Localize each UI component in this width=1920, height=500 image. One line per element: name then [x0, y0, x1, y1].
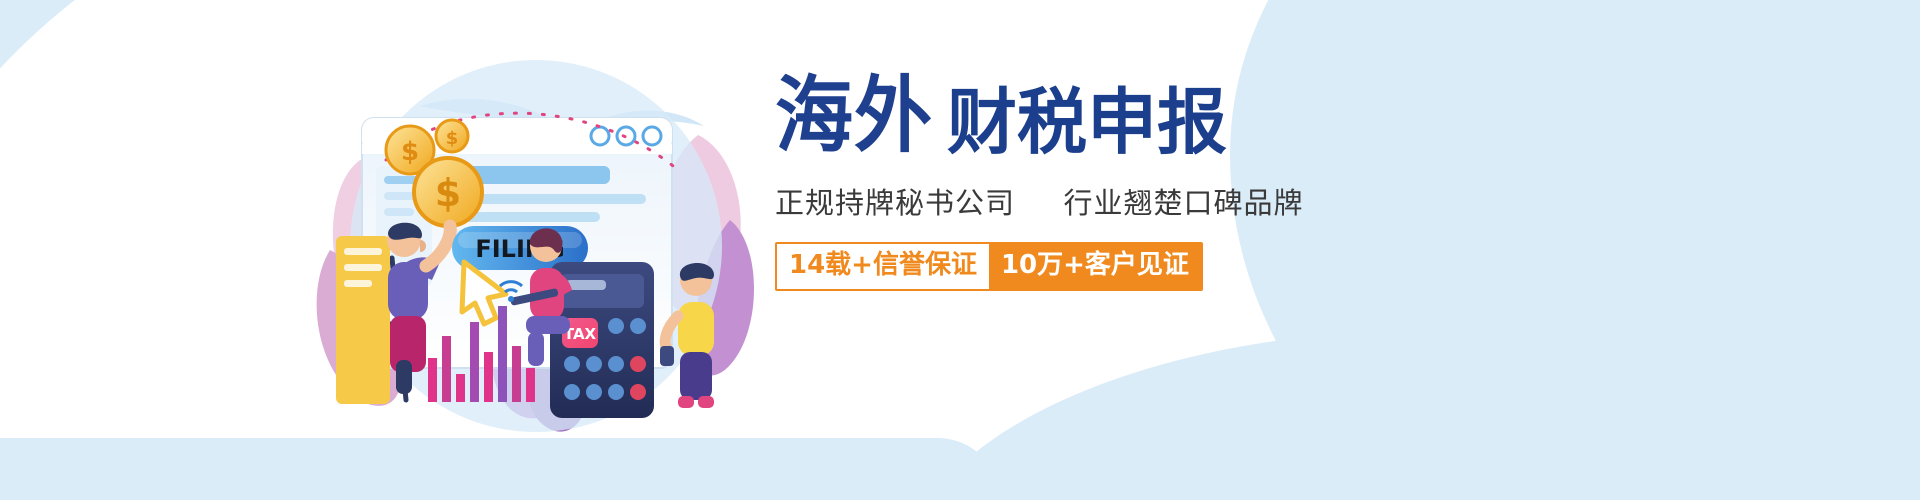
- headline-part-two: 财税申报: [937, 87, 1227, 158]
- svg-text:$: $: [435, 171, 461, 215]
- headline: 海外 财税申报: [775, 72, 1475, 158]
- subtitle-left: 正规持牌秘书公司: [775, 186, 1015, 220]
- subtitle: 正规持牌秘书公司 行业翘楚口碑品牌: [775, 180, 1475, 222]
- promo-banner: $ $ $ FILING: [0, 0, 1920, 500]
- document-stack: [336, 236, 390, 404]
- badge-years: 14载+信誉保证: [777, 244, 989, 289]
- headline-part-one: 海外: [775, 75, 933, 158]
- banner-copy: 海外 财税申报 正规持牌秘书公司 行业翘楚口碑品牌 14载+信誉保证 10万+客…: [775, 72, 1475, 291]
- badge-group: 14载+信誉保证 10万+客户见证: [775, 242, 1203, 291]
- hero-illustration: $ $ $ FILING: [300, 40, 770, 460]
- svg-text:$: $: [446, 128, 459, 149]
- subtitle-right: 行业翘楚口碑品牌: [1063, 186, 1303, 220]
- coin-dollar-symbol: $: [401, 137, 419, 167]
- badge-customers: 10万+客户见证: [989, 244, 1201, 289]
